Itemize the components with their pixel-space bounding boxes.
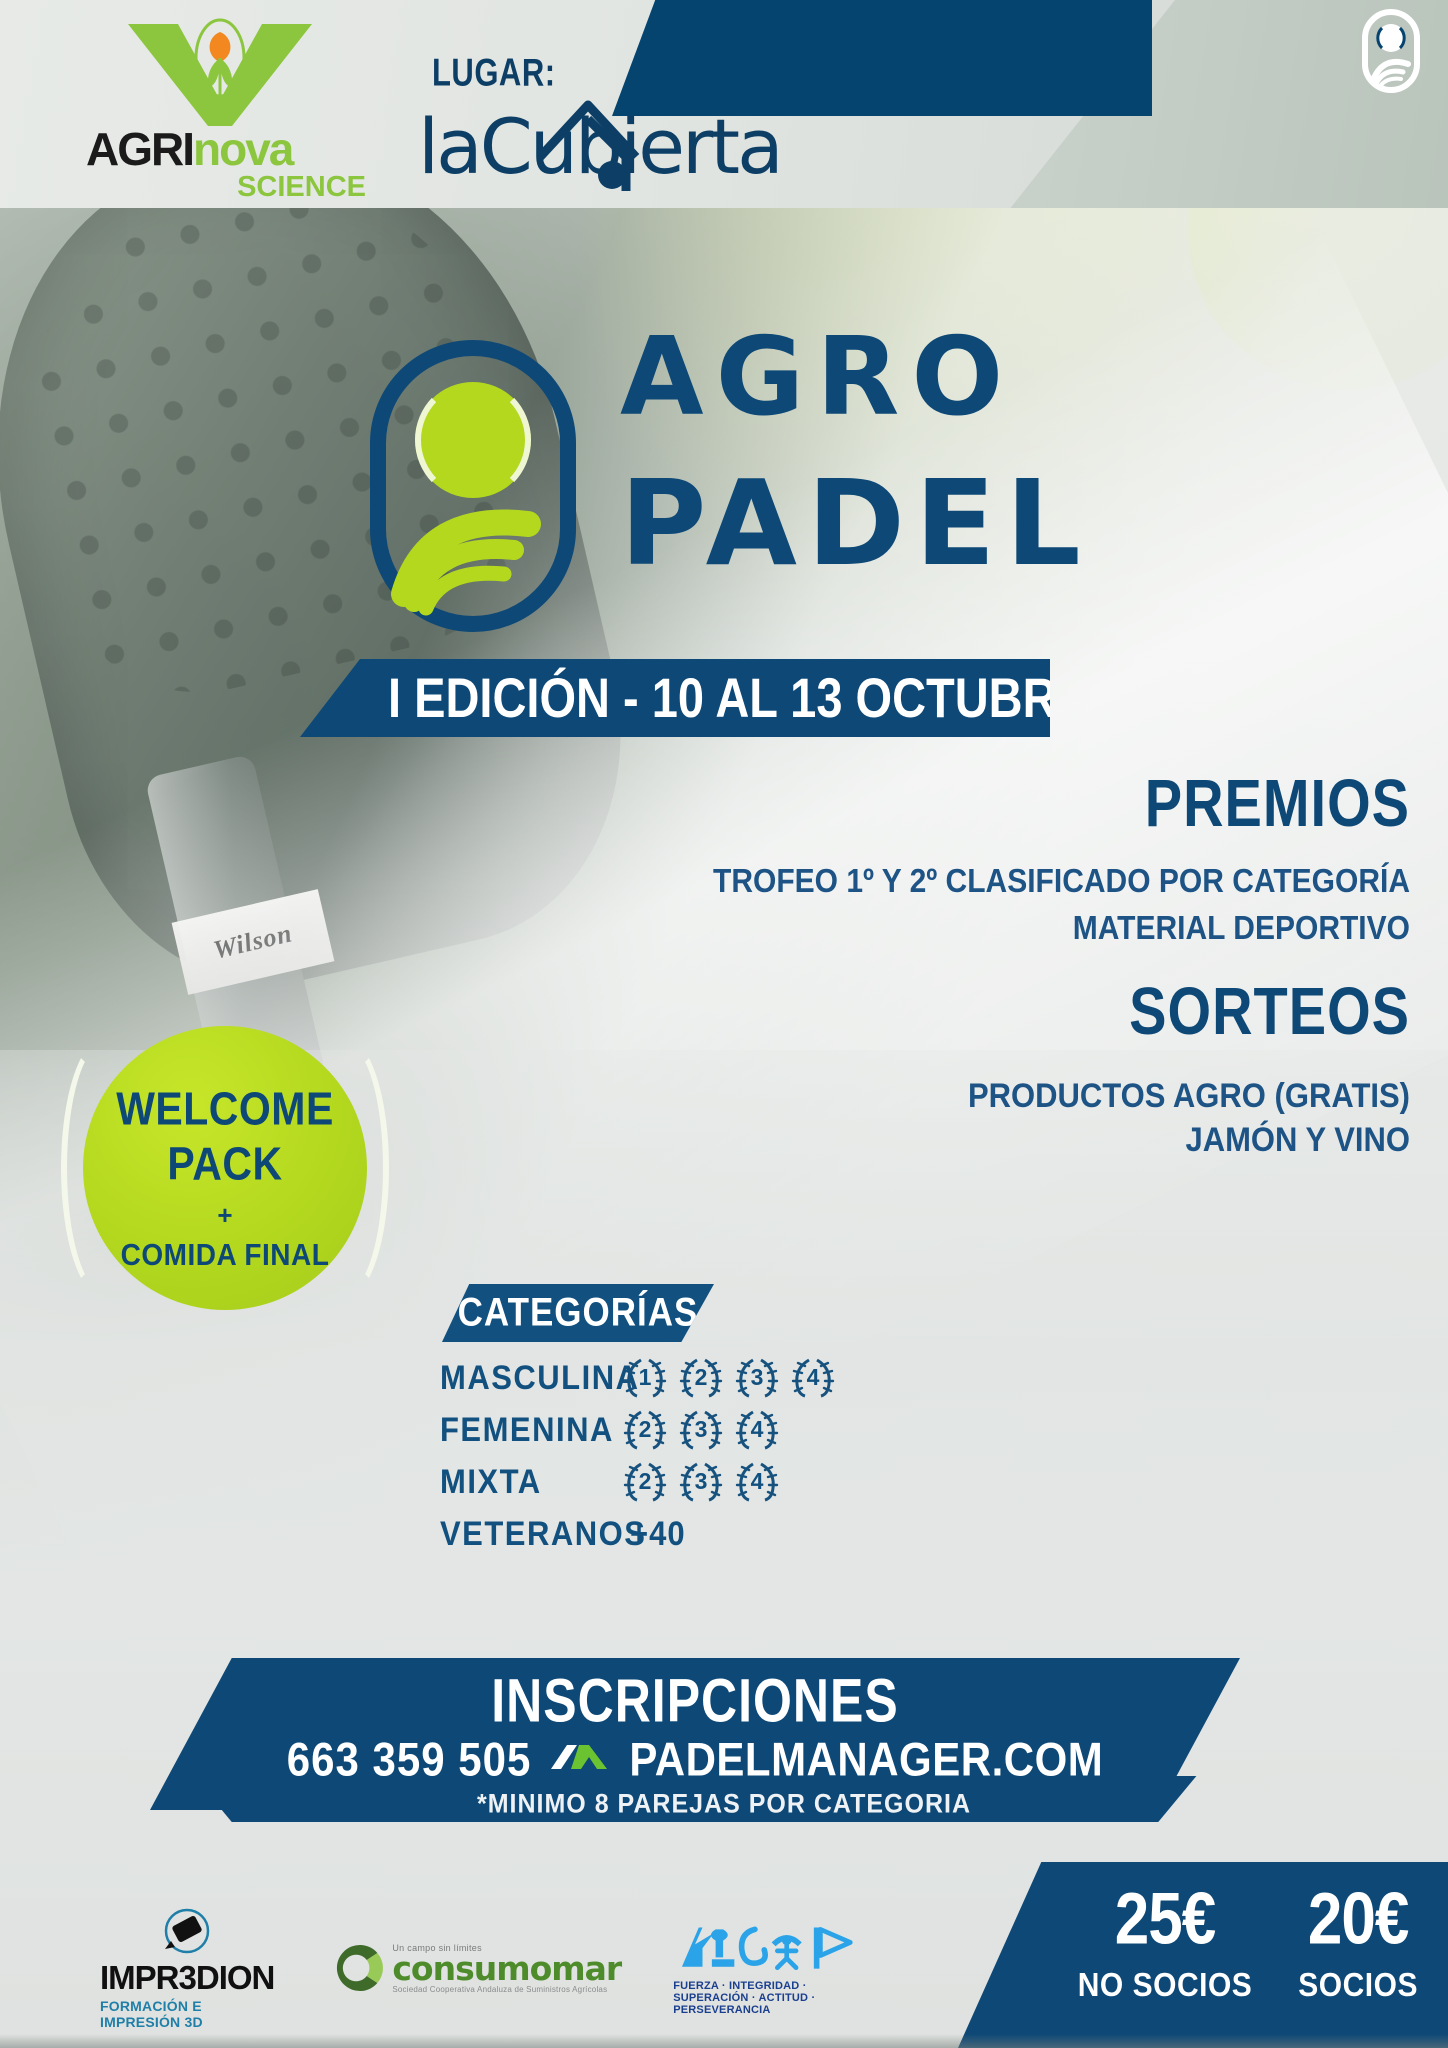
categoria-row: MIXTA 2 3 4	[440, 1456, 740, 1508]
agrinova-name-sub: SCIENCE	[86, 172, 366, 202]
sponsor-impr3dion-tagline: FORMACIÓN E IMPRESIÓN 3D	[100, 1998, 274, 2030]
categoria-name: MIXTA	[440, 1453, 542, 1511]
level-number: 4	[734, 1406, 780, 1452]
hero-title-line1: AGRO	[620, 330, 1120, 426]
agrinova-name-main: AGRI	[86, 123, 193, 175]
venue-logo: laCubierta	[412, 95, 832, 200]
hero-title-line2: PADEL	[620, 468, 1120, 578]
poster-root: Wilson	[0, 0, 1448, 2048]
sponsor-impr3dion-name: IMPR3DION	[100, 1961, 274, 1995]
welcome-pack-line2: PACK	[83, 1138, 367, 1191]
laurel-wreath-icon: 4	[790, 1354, 836, 1400]
welcome-pack-badge: WELCOME PACK + COMIDA FINAL	[83, 1026, 367, 1310]
level-number: 2	[678, 1354, 724, 1400]
categoria-levels: 2 3 4	[622, 1406, 780, 1452]
date-banner: I EDICIÓN - 10 AL 13 OCTUBRE	[300, 659, 1050, 737]
laurel-wreath-icon: 2	[678, 1354, 724, 1400]
bottom-shade	[0, 2034, 1448, 2048]
premios-item-1: MATERIAL DEPORTIVO	[1073, 910, 1410, 948]
categoria-row: VETERANOS +40	[440, 1508, 740, 1560]
inscripciones-note: *MINIMO 8 PAREJAS POR CATEGORIA	[0, 1789, 1448, 1820]
categoria-name: FEMENINA	[440, 1401, 614, 1459]
sponsor-consumomar-name: consumomar	[392, 1953, 621, 1985]
laurel-wreath-icon: 3	[734, 1354, 780, 1400]
level-number: 3	[678, 1406, 724, 1452]
premios-heading: PREMIOS	[1145, 764, 1410, 842]
level-number: 1	[622, 1354, 668, 1400]
categoria-note: +40	[630, 1505, 686, 1562]
categoria-name: MASCULINA	[440, 1349, 640, 1407]
laurel-wreath-icon: 4	[734, 1406, 780, 1452]
sponsor-fisap-tagline: FUERZA · INTEGRIDAD · SUPERACIÓN · ACTIT…	[673, 1980, 863, 2016]
welcome-pack-line3: COMIDA FINAL	[83, 1237, 367, 1272]
level-number: 3	[734, 1354, 780, 1400]
price-item: 25€ NO SOCIOS	[1078, 1884, 1253, 2003]
laurel-wreath-icon: 2	[622, 1458, 668, 1504]
laurel-wreath-icon: 2	[622, 1406, 668, 1452]
hero-title: AGRO PADEL	[620, 330, 1120, 578]
level-number: 4	[734, 1458, 780, 1504]
price-item: 20€ SOCIOS	[1298, 1884, 1418, 2003]
categorias-banner: CATEGORÍAS	[442, 1284, 714, 1342]
level-number: 2	[622, 1406, 668, 1452]
price-label: NO SOCIOS	[1078, 1967, 1253, 2004]
price-value: 25€	[1078, 1878, 1253, 1962]
level-number: 2	[622, 1458, 668, 1504]
inscripciones-heading: INSCRIPCIONES	[150, 1666, 1240, 1737]
sorteos-item-0: PRODUCTOS AGRO (GRATIS)	[968, 1076, 1410, 1116]
sponsor-consumomar-sub: Sociedad Cooperativa Andaluza de Suminis…	[392, 1985, 621, 1994]
sorteos-heading: SORTEOS	[1129, 972, 1410, 1050]
date-banner-text: I EDICIÓN - 10 AL 13 OCTUBRE	[388, 652, 1088, 744]
venue-label: LUGAR:	[432, 51, 556, 96]
sponsor-impr3dion-logo: IMPR3DION FORMACIÓN E IMPRESIÓN 3D	[100, 1907, 274, 2030]
sponsor-footer: IMPR3DION FORMACIÓN E IMPRESIÓN 3D Un ca…	[100, 1898, 860, 2038]
categorias-heading: CATEGORÍAS	[442, 1280, 714, 1346]
level-number: 3	[678, 1458, 724, 1504]
categorias-list: MASCULINA 1 2 3 4	[440, 1352, 740, 1560]
agrinova-mark-icon	[120, 18, 320, 128]
padelmanager-chevron-icon	[549, 1739, 611, 1781]
categoria-name: VETERANOS	[440, 1505, 646, 1563]
agrinova-wordmark: AGRInova SCIENCE	[86, 126, 366, 202]
agrinova-logo: AGRInova SCIENCE	[86, 18, 366, 198]
sorteos-item-1: JAMÓN Y VINO	[1185, 1120, 1410, 1160]
categoria-levels: 1 2 3 4	[622, 1354, 836, 1400]
agrinova-name-accent: nova	[193, 123, 292, 175]
categoria-row: MASCULINA 1 2 3 4	[440, 1352, 740, 1404]
sponsor-fisap-logo: FUERZA · INTEGRIDAD · SUPERACIÓN · ACTIT…	[673, 1920, 863, 2016]
sponsor-consumomar-logo: Un campo sin límites consumomar Sociedad…	[326, 1937, 621, 1999]
categoria-row: FEMENINA 2 3 4	[440, 1404, 740, 1456]
laurel-wreath-icon: 3	[678, 1458, 724, 1504]
welcome-pack-text: WELCOME PACK + COMIDA FINAL	[83, 1086, 367, 1271]
agropadel-badge-icon	[368, 340, 578, 632]
level-number: 4	[790, 1354, 836, 1400]
welcome-pack-plus: +	[83, 1200, 367, 1231]
premios-item-0: TROFEO 1º Y 2º CLASIFICADO POR CATEGORÍA	[713, 863, 1410, 901]
price-value: 20€	[1298, 1878, 1418, 1962]
price-list: 25€ NO SOCIOS 20€ SOCIOS	[1078, 1884, 1418, 2003]
price-label: SOCIOS	[1298, 1967, 1418, 2004]
welcome-pack-line1: WELCOME	[83, 1083, 367, 1136]
laurel-wreath-icon: 3	[678, 1406, 724, 1452]
categoria-levels: 2 3 4	[622, 1458, 780, 1504]
laurel-wreath-icon: 1	[622, 1354, 668, 1400]
venue-name: laCubierta	[418, 109, 781, 185]
agropadel-ball-field-icon	[1360, 8, 1422, 94]
laurel-wreath-icon: 4	[734, 1458, 780, 1504]
